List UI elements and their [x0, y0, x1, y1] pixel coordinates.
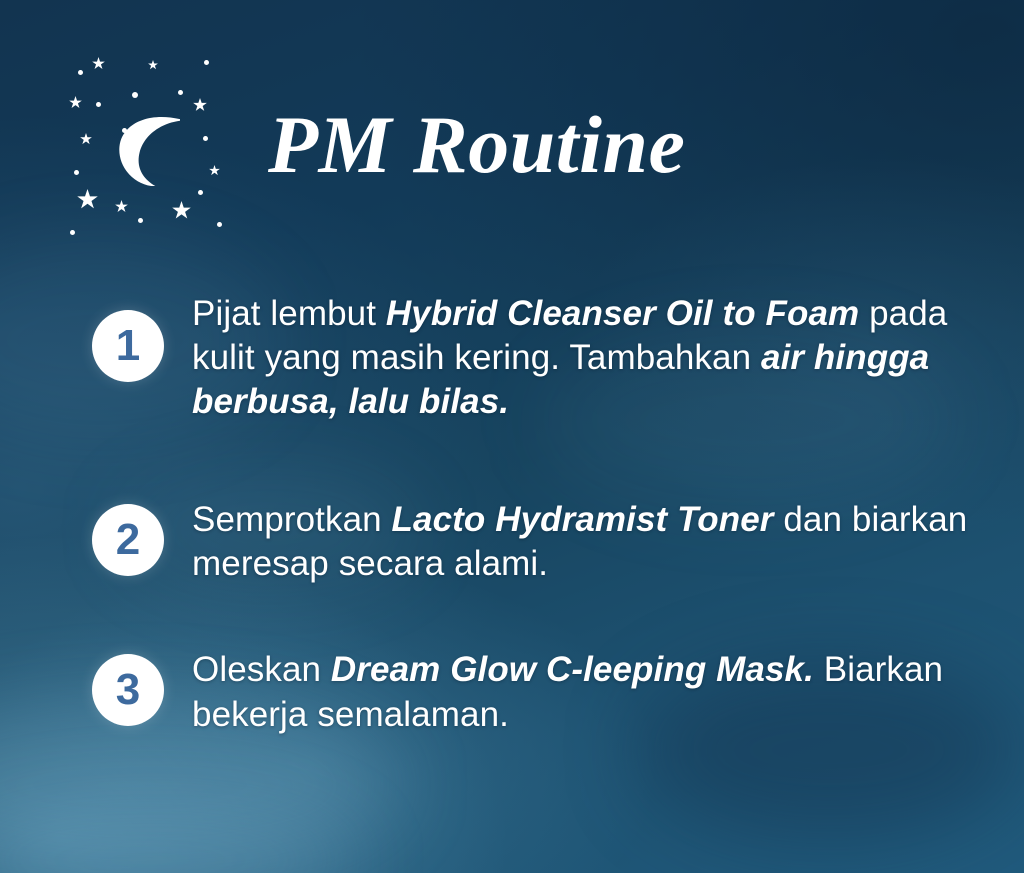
crescent-moon-icon — [112, 110, 180, 186]
star-dot-icon — [138, 218, 143, 223]
step-number-badge: 1 — [92, 310, 164, 382]
star-dot-icon — [70, 230, 75, 235]
routine-step: 2 Semprotkan Lacto Hydramist Toner dan b… — [0, 498, 1024, 586]
star-icon — [69, 96, 82, 109]
star-dot-icon — [178, 90, 183, 95]
star-icon — [77, 189, 98, 210]
star-icon — [172, 201, 191, 220]
step-description: Oleskan Dream Glow C-leeping Mask. Biark… — [192, 648, 992, 736]
moon-and-stars-icon — [62, 52, 230, 238]
star-icon — [148, 60, 158, 70]
star-icon — [115, 200, 128, 213]
star-icon — [92, 57, 105, 70]
star-dot-icon — [203, 136, 208, 141]
star-dot-icon — [96, 102, 101, 107]
star-dot-icon — [74, 170, 79, 175]
step-description: Pijat lembut Hybrid Cleanser Oil to Foam… — [192, 292, 992, 424]
step-number-badge: 3 — [92, 654, 164, 726]
page-title: PM Routine — [268, 104, 685, 186]
star-dot-icon — [204, 60, 209, 65]
star-icon — [209, 165, 220, 176]
step-number-badge: 2 — [92, 504, 164, 576]
step-description: Semprotkan Lacto Hydramist Toner dan bia… — [192, 498, 992, 586]
star-icon — [80, 133, 92, 145]
star-dot-icon — [78, 70, 83, 75]
star-dot-icon — [132, 92, 138, 98]
star-dot-icon — [217, 222, 222, 227]
pm-routine-poster: PM Routine 1 Pijat lembut Hybrid Cleanse… — [0, 0, 1024, 873]
cloud-wisp — [0, 800, 360, 873]
star-icon — [193, 98, 207, 112]
star-dot-icon — [124, 157, 131, 164]
routine-step-list: 1 Pijat lembut Hybrid Cleanser Oil to Fo… — [0, 292, 1024, 737]
routine-step: 3 Oleskan Dream Glow C-leeping Mask. Bia… — [0, 648, 1024, 736]
routine-step: 1 Pijat lembut Hybrid Cleanser Oil to Fo… — [0, 292, 1024, 424]
star-dot-icon — [122, 128, 127, 133]
star-dot-icon — [198, 190, 203, 195]
